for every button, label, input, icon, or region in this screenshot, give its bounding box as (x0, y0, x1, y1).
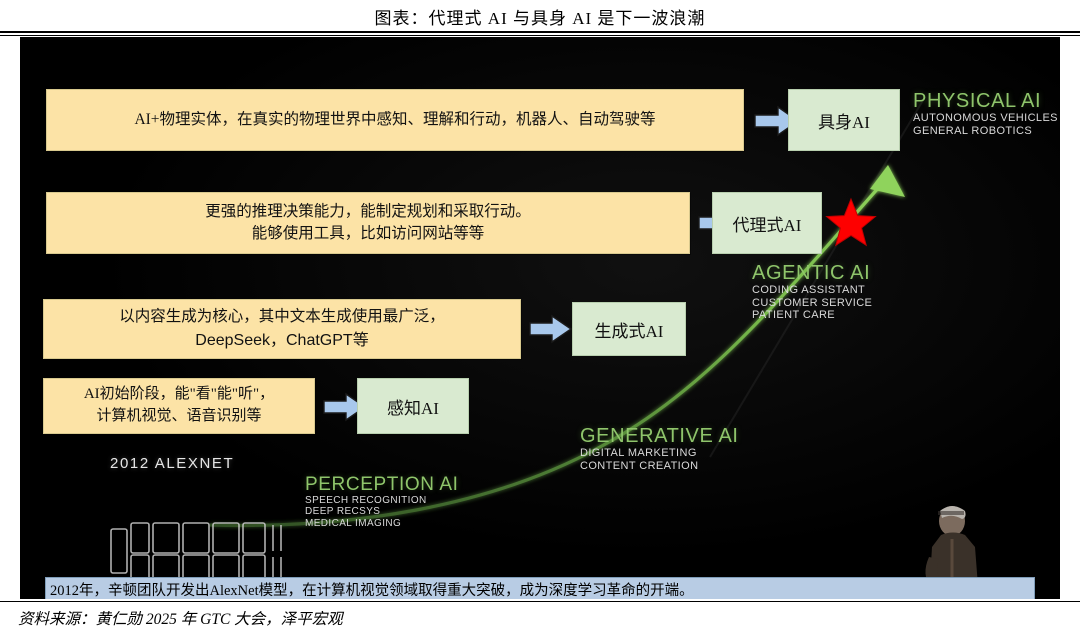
caption-perception-ai: PERCEPTION AI SPEECH RECOGNITION DEEP RE… (305, 474, 459, 529)
description-box-perception: AI初始阶段，能"看"能"听"， 计算机视觉、语音识别等 (43, 378, 315, 434)
caption-physical-heading: PHYSICAL AI (913, 90, 1058, 112)
description-agentic-line-2: 能够使用工具，比如访问网站等等 (252, 223, 485, 245)
caption-physical-ai: PHYSICAL AI AUTONOMOUS VEHICLES GENERAL … (913, 90, 1058, 137)
block-arrow-generative (529, 314, 573, 344)
description-box-agentic: 更强的推理决策能力，能制定规划和采取行动。 能够使用工具，比如访问网站等等 (46, 192, 690, 254)
caption-perception-heading: PERCEPTION AI (305, 474, 459, 495)
stage-box-agentic: 代理式AI (712, 192, 822, 254)
caption-generative-line-1: DIGITAL MARKETING (580, 447, 739, 459)
source-note: 资料来源：黄仁勋 2025 年 GTC 大会，泽平宏观 (18, 607, 343, 629)
description-agentic-line-1: 更强的推理决策能力，能制定规划和采取行动。 (205, 201, 531, 223)
description-box-physical: AI+物理实体，在真实的物理世界中感知、理解和行动，机器人、自动驾驶等 (46, 89, 744, 151)
description-generative-line-1: 以内容生成为核心，其中文本生成使用最广泛， (119, 306, 445, 328)
caption-agentic-line-3: PATIENT CARE (752, 309, 872, 321)
caption-agentic-line-1: CODING ASSISTANT (752, 284, 872, 296)
caption-perception-line-2: DEEP RECSYS (305, 506, 459, 517)
caption-agentic-line-2: CUSTOMER SERVICE (752, 297, 872, 309)
stage-box-perception: 感知AI (357, 378, 469, 434)
slide-bottom-caption: 2012年，辛顿团队开发出AlexNet模型，在计算机视觉领域取得重大突破，成为… (45, 577, 1035, 599)
stage-box-generative: 生成式AI (572, 302, 686, 356)
description-generative-line-2: DeepSeek，ChatGPT等 (195, 329, 368, 352)
description-box-generative: 以内容生成为核心，其中文本生成使用最广泛， DeepSeek，ChatGPT等 (43, 299, 521, 359)
caption-physical-line-1: AUTONOMOUS VEHICLES (913, 112, 1058, 124)
caption-generative-line-2: CONTENT CREATION (580, 460, 739, 472)
red-star-highlight (824, 197, 878, 249)
caption-generative-heading: GENERATIVE AI (580, 425, 739, 447)
caption-generative-ai: GENERATIVE AI DIGITAL MARKETING CONTENT … (580, 425, 739, 472)
gtc-slide-photo: AI+物理实体，在真实的物理世界中感知、理解和行动，机器人、自动驾驶等 具身AI… (20, 37, 1060, 599)
chart-title: 图表：代理式 AI 与具身 AI 是下一波浪潮 (0, 4, 1080, 29)
alexnet-year-label: 2012 ALEXNET (110, 455, 234, 472)
source-rule (0, 601, 1080, 602)
description-perception-line-1: AI初始阶段，能"看"能"听"， (84, 384, 274, 406)
caption-agentic-ai: AGENTIC AI CODING ASSISTANT CUSTOMER SER… (752, 262, 872, 321)
description-perception-line-2: 计算机视觉、语音识别等 (96, 406, 261, 428)
caption-perception-line-3: MEDICAL IMAGING (305, 518, 459, 529)
caption-perception-line-1: SPEECH RECOGNITION (305, 495, 459, 506)
caption-agentic-heading: AGENTIC AI (752, 262, 872, 284)
stage-box-physical: 具身AI (788, 89, 900, 151)
caption-physical-line-2: GENERAL ROBOTICS (913, 125, 1058, 137)
title-rule-upper (0, 31, 1080, 33)
title-rule-lower (0, 35, 1080, 36)
